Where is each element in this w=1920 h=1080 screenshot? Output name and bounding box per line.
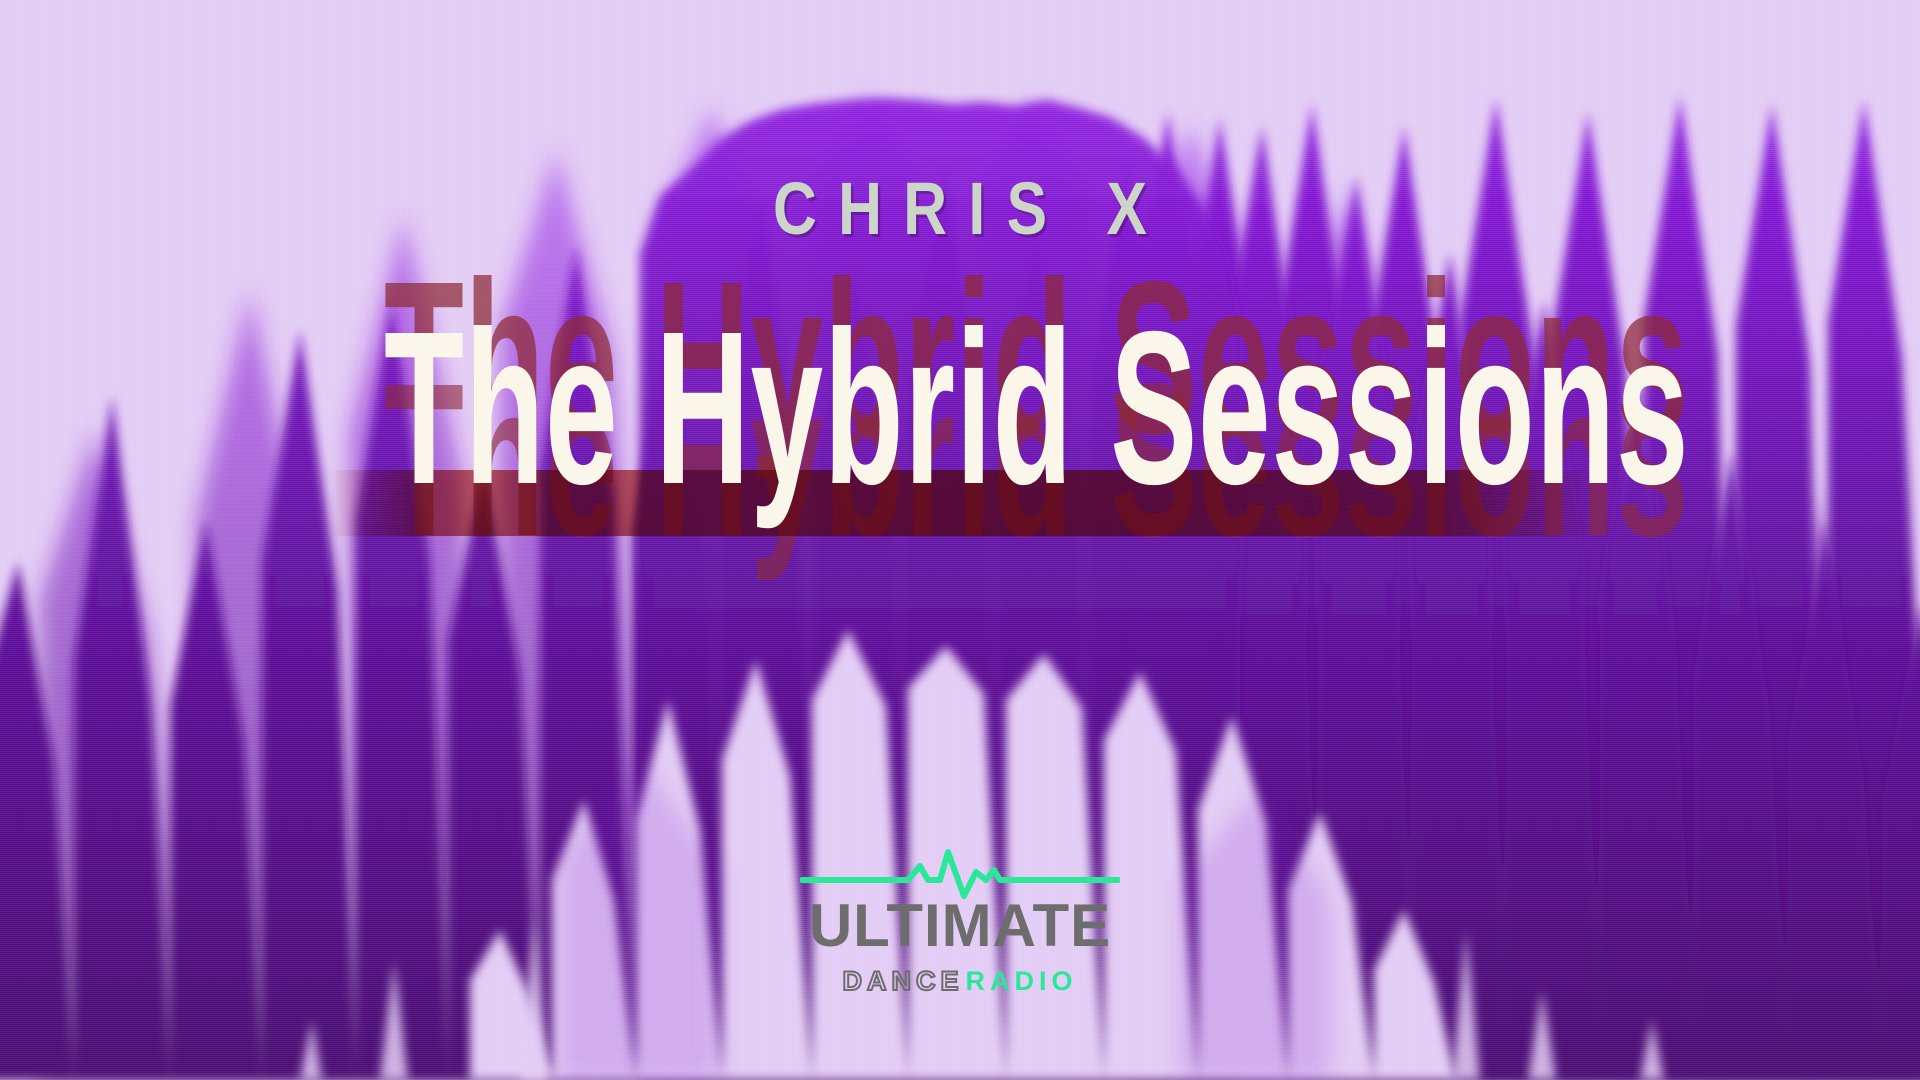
radio-show-artwork: CHRIS X The Hybrid Sessions The Hybrid S… [0,0,1920,1080]
waveform-backdrop [0,0,1920,1080]
